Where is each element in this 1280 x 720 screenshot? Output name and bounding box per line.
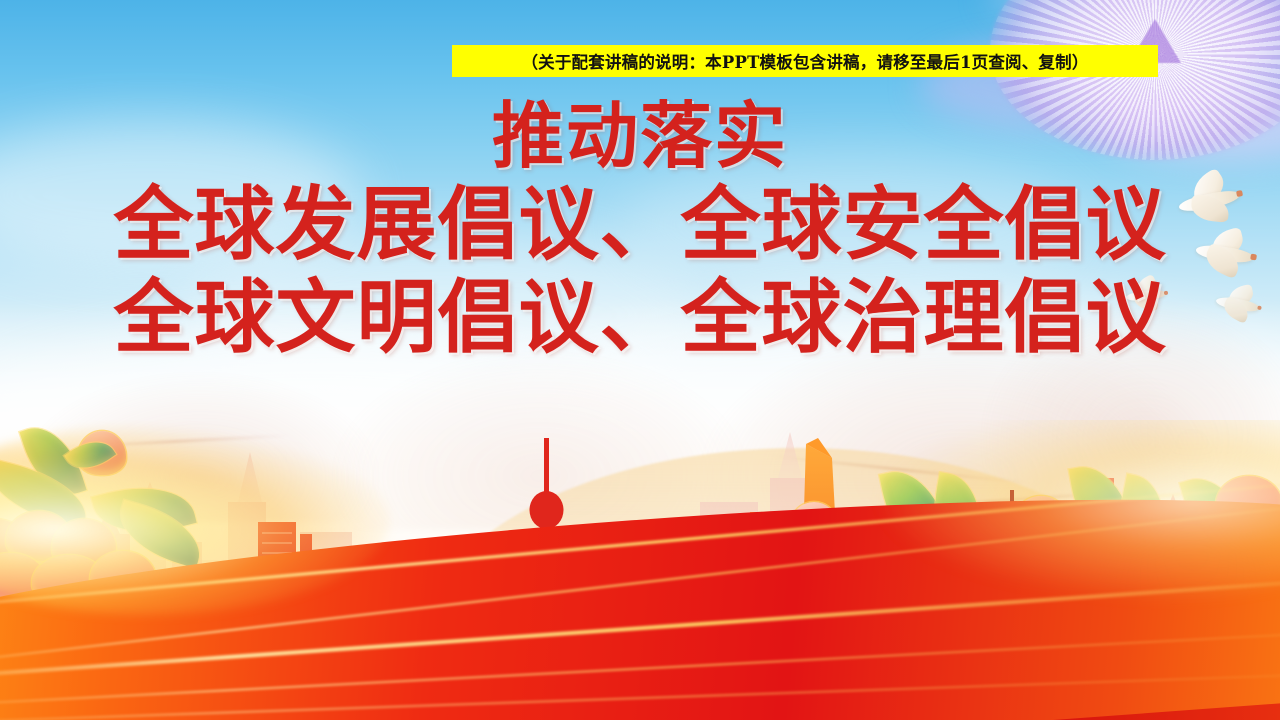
red-silk-ribbon xyxy=(0,420,1280,720)
ink-mountain-decor xyxy=(20,372,380,522)
peony-cluster-left xyxy=(0,415,230,615)
cloud-decor xyxy=(0,120,360,270)
city-skyline-silhouette xyxy=(0,382,1280,642)
dove-icon xyxy=(1214,284,1263,321)
great-wall-ink-decor xyxy=(700,330,1220,540)
dove-icon xyxy=(1174,172,1243,226)
title-line-2: 全球发展倡议、全球安全倡议 xyxy=(0,182,1280,267)
great-wall-line xyxy=(771,454,1030,484)
emblem-cloud-decor xyxy=(940,0,1280,200)
horizon-haze xyxy=(0,300,1280,560)
title-line-1: 推动落实 xyxy=(0,98,1280,174)
cloud-decor xyxy=(520,300,1280,520)
purple-sunburst-emblem-icon xyxy=(990,0,1280,160)
ink-mountain-decor xyxy=(330,350,750,530)
great-wall-line xyxy=(840,490,1139,514)
dove-icon xyxy=(1125,278,1168,310)
golden-hill-decor xyxy=(420,448,1180,648)
ppt-slide: （关于配套讲稿的说明：本PPT模板包含讲稿，请移至最后1页查阅、复制） 推动落实… xyxy=(0,0,1280,720)
sprout-decor xyxy=(778,502,848,572)
cloud-decor xyxy=(180,230,700,400)
cloud-decor xyxy=(0,330,660,530)
great-wall-line xyxy=(60,434,290,449)
note-banner: （关于配套讲稿的说明：本PPT模板包含讲稿，请移至最后1页查阅、复制） xyxy=(452,45,1158,77)
slide-title: 推动落实 全球发展倡议、全球安全倡议 全球文明倡议、全球治理倡议 xyxy=(0,98,1280,360)
dove-icon xyxy=(1193,228,1256,276)
title-line-3: 全球文明倡议、全球治理倡议 xyxy=(0,275,1280,360)
cloud-decor xyxy=(620,150,1080,300)
ink-mountain-decor xyxy=(980,300,1280,500)
peony-cluster-right xyxy=(860,452,1280,652)
